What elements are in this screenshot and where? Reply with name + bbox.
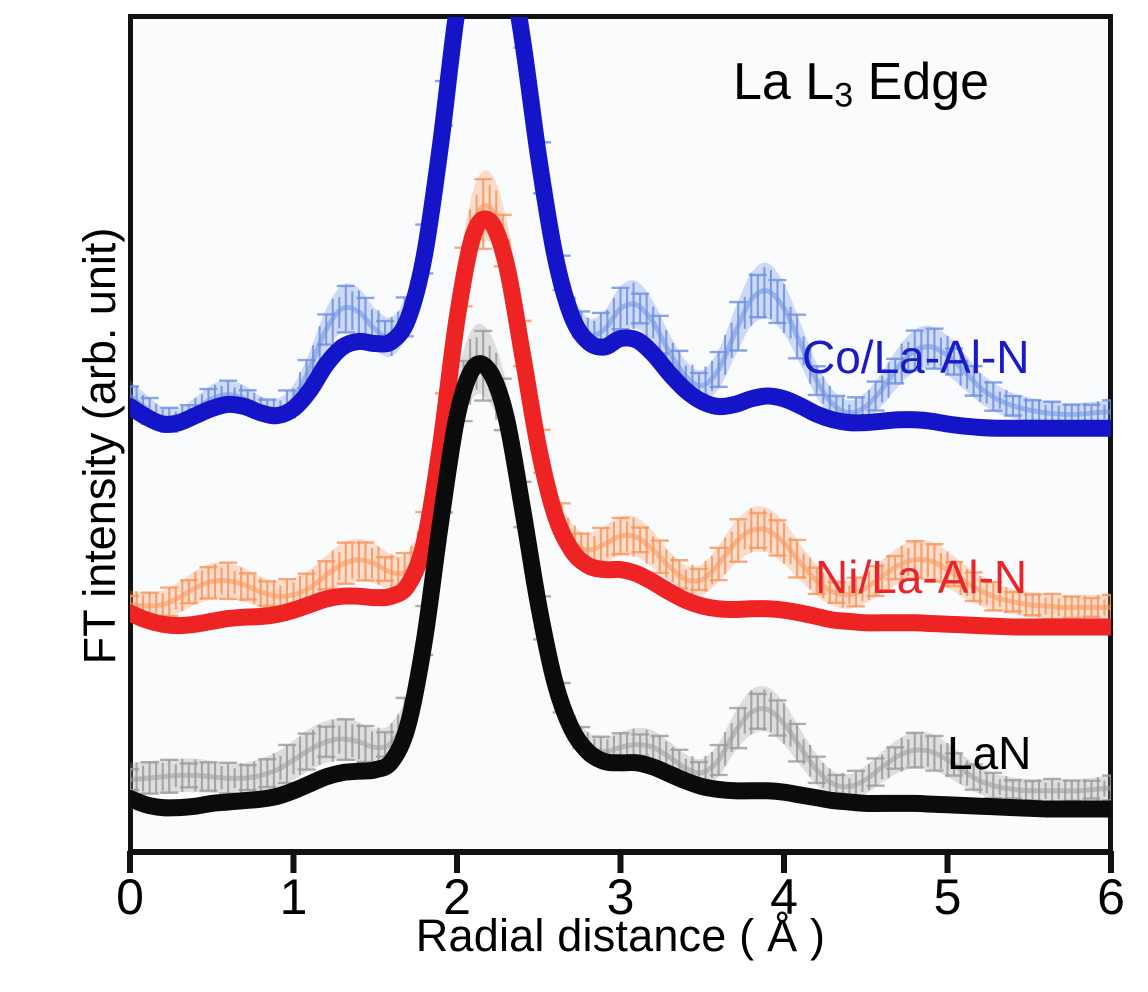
chart-canvas <box>0 0 1148 992</box>
figure-root: La L3 Edge Co/La-Al-N Ni/La-Al-N LaN Rad… <box>0 0 1148 992</box>
edge-annotation-main: La L <box>733 53 834 111</box>
edge-annotation: La L3 Edge <box>733 52 989 115</box>
series-group <box>121 0 1120 809</box>
y-axis-title: FT intensity (arb. unit) <box>74 116 126 776</box>
series-label-co: Co/La-Al-N <box>802 330 1030 384</box>
edge-annotation-tail: Edge <box>853 53 989 111</box>
series-label-ni: Ni/La-Al-N <box>815 550 1027 604</box>
edge-annotation-subscript: 3 <box>834 76 853 114</box>
x-tick-label-2: 2 <box>427 868 487 926</box>
x-tick-label-1: 1 <box>264 868 324 926</box>
x-tick-label-5: 5 <box>918 868 978 926</box>
x-tick-label-0: 0 <box>100 868 160 926</box>
x-tick-label-4: 4 <box>754 868 814 926</box>
x-tick-label-3: 3 <box>591 868 651 926</box>
series-label-lan: LaN <box>947 726 1031 780</box>
x-tick-label-6: 6 <box>1081 868 1141 926</box>
